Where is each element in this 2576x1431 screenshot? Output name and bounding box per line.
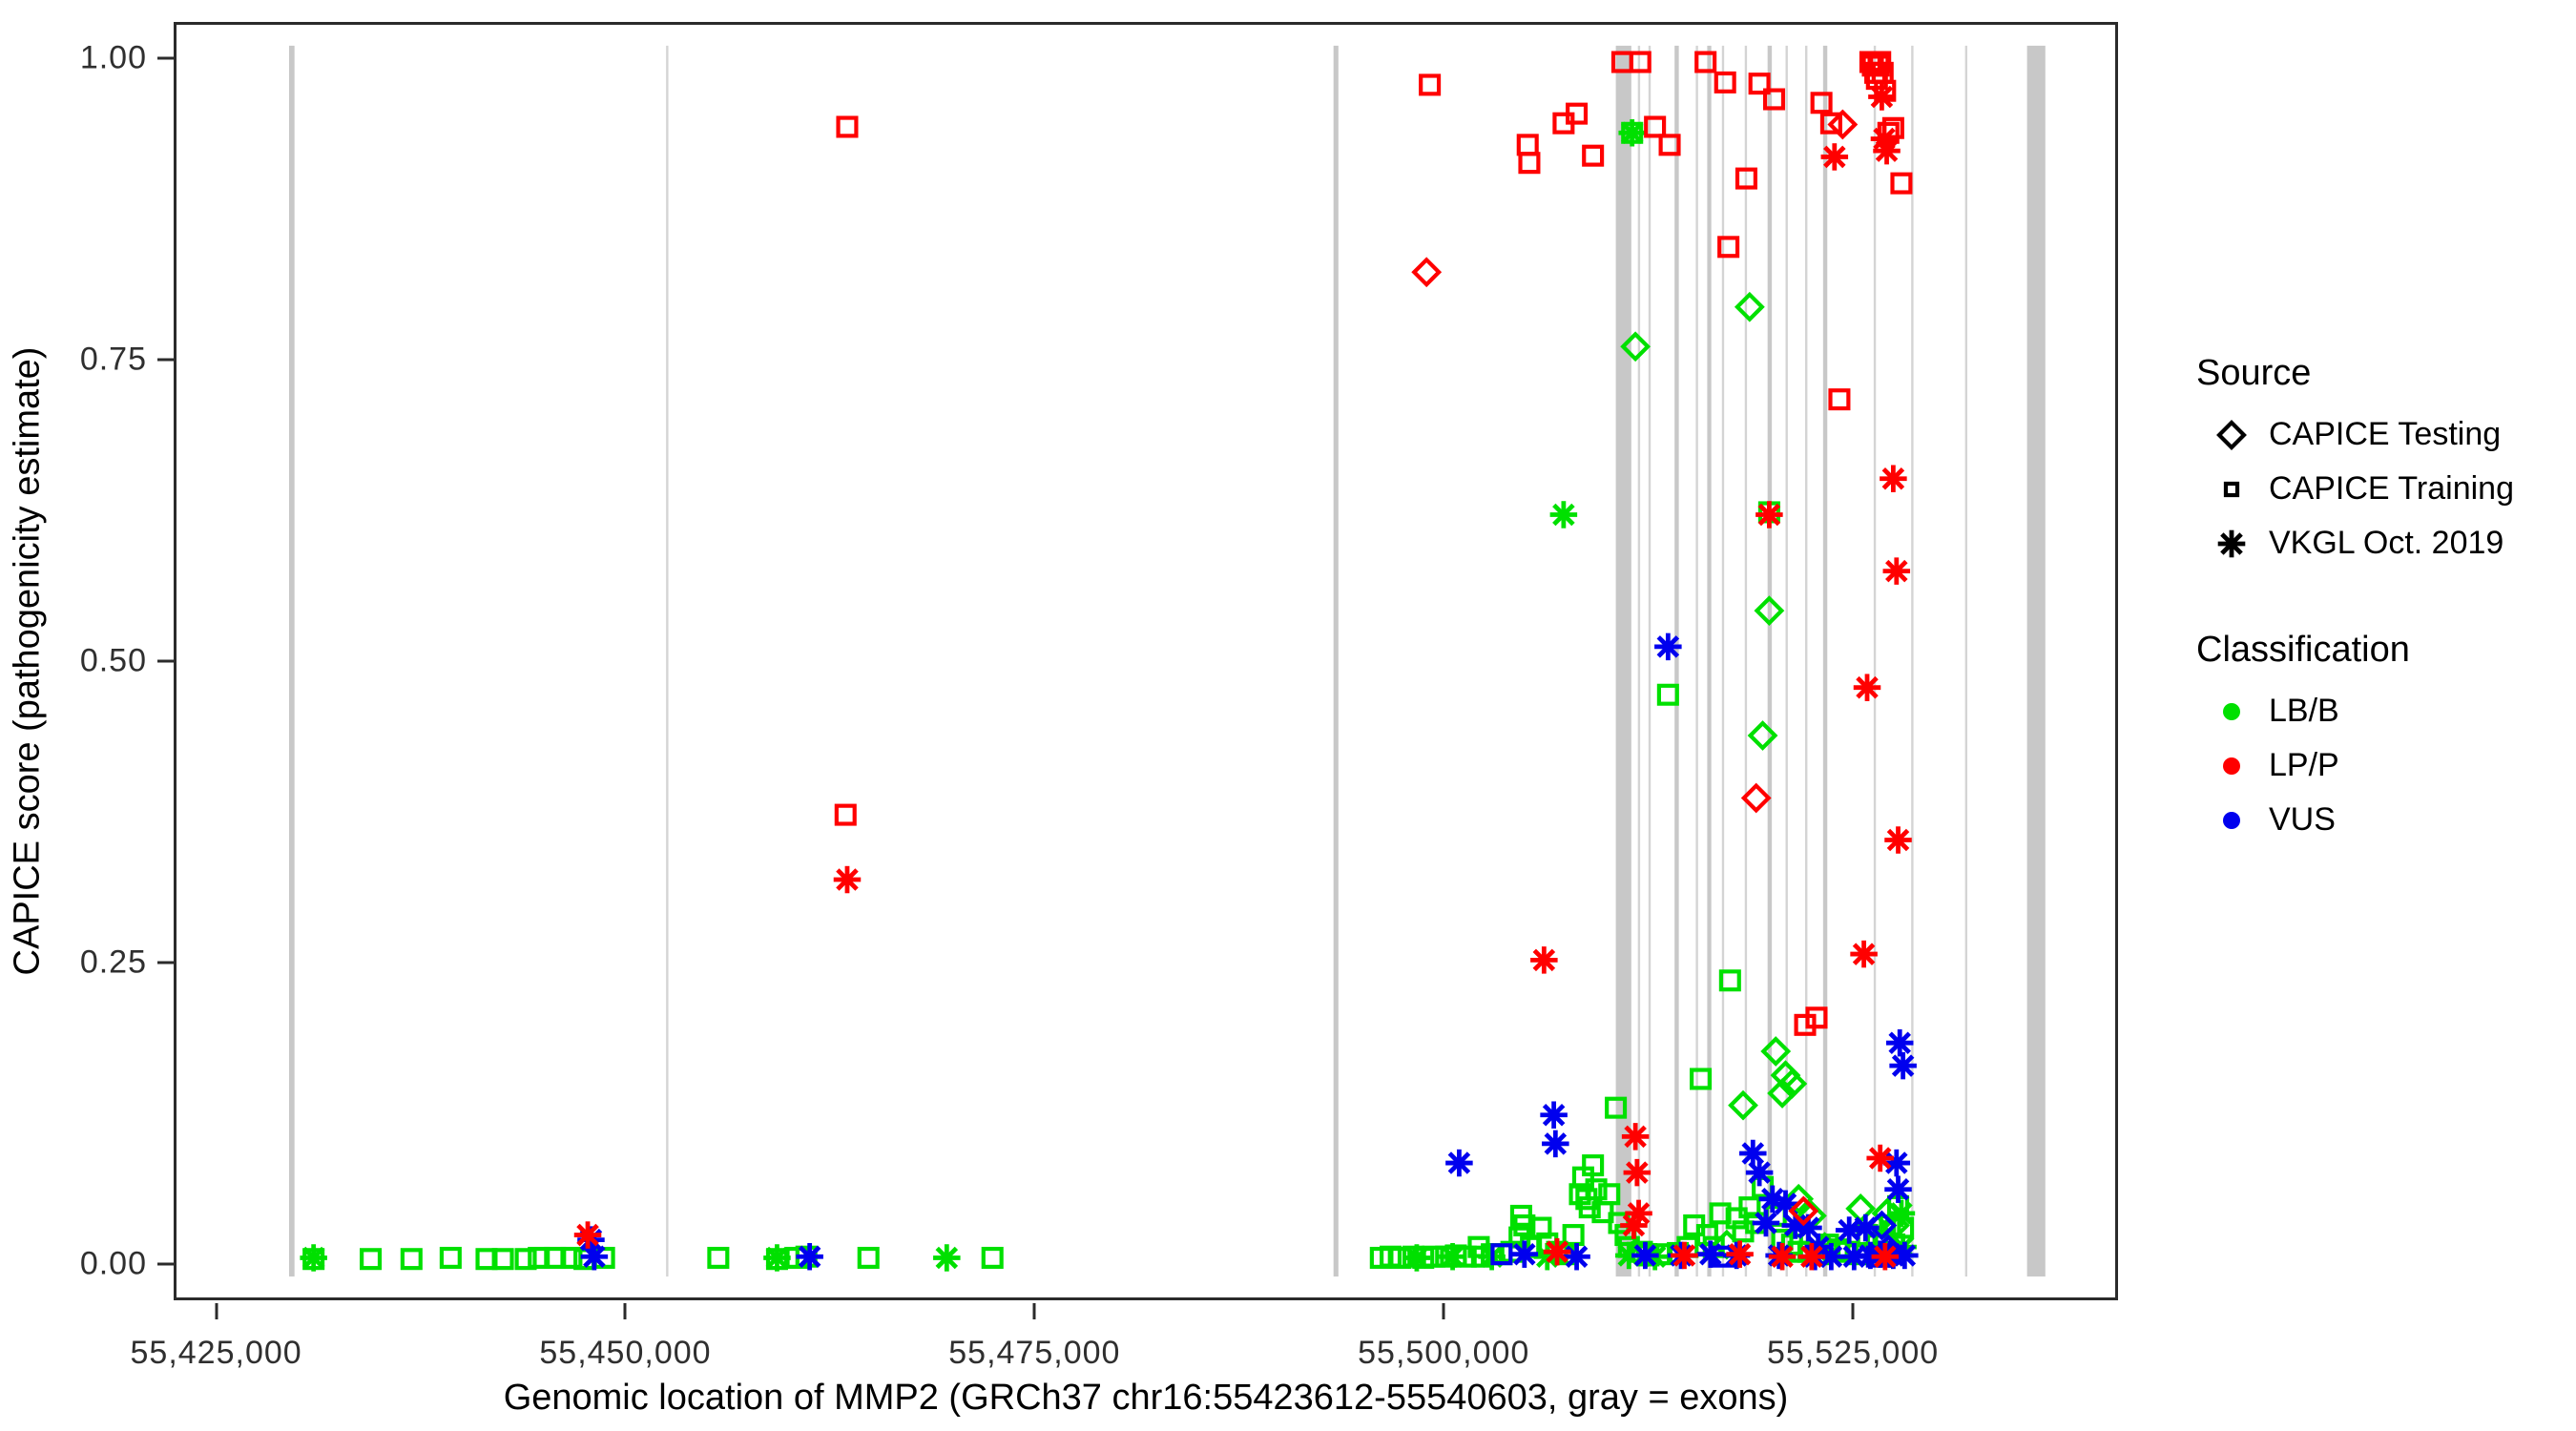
- data-point-asterisk: [1854, 674, 1881, 700]
- exon-band: [1695, 46, 1697, 1276]
- data-point-asterisk: [574, 1221, 602, 1248]
- data-point-square: [709, 1249, 727, 1267]
- y-tick-label: 0.50: [4, 643, 147, 680]
- x-tick-mark: [1852, 1303, 1855, 1319]
- data-point-asterisk: [1753, 1210, 1780, 1236]
- legend-item-capice-training[interactable]: CAPICE Training: [2194, 462, 2566, 516]
- data-point-circle: [2223, 757, 2240, 775]
- legend-label: CAPICE Training: [2269, 470, 2514, 508]
- exon-band: [1805, 46, 1807, 1276]
- legend-title-classification: Classification: [2196, 630, 2566, 671]
- x-tick-label: 55,500,000: [1358, 1335, 1529, 1372]
- y-tick-label: 0.75: [4, 341, 147, 378]
- data-point-asterisk: [1540, 1101, 1568, 1128]
- legend-item-lp-p[interactable]: LP/P: [2194, 738, 2566, 793]
- data-point-asterisk: [1883, 557, 1911, 584]
- data-point-asterisk: [1439, 1243, 1466, 1270]
- legend-item-capice-testing[interactable]: CAPICE Testing: [2194, 407, 2566, 462]
- exon-band: [1638, 46, 1640, 1276]
- data-point-diamond: [1763, 1039, 1788, 1064]
- series: [1623, 295, 1907, 1259]
- data-point-diamond: [1731, 1093, 1755, 1118]
- exon-band: [1745, 46, 1747, 1276]
- data-point-asterisk: [1542, 1130, 1569, 1157]
- series: [304, 124, 1912, 1268]
- legend-label: LB/B: [2269, 693, 2339, 730]
- data-point-asterisk: [1697, 1240, 1725, 1267]
- data-point-asterisk: [834, 866, 862, 893]
- data-point-square: [403, 1250, 421, 1268]
- exon-band: [1874, 46, 1876, 1276]
- data-point-square: [1519, 135, 1537, 154]
- exon-band: [1649, 46, 1651, 1276]
- data-point-asterisk: [1884, 826, 1912, 853]
- data-point-diamond: [1737, 295, 1762, 320]
- y-tick-mark: [157, 56, 174, 59]
- exon-band: [1334, 46, 1339, 1276]
- data-point-square: [1813, 93, 1831, 112]
- data-point-square: [2226, 483, 2237, 494]
- x-axis-label: Genomic location of MMP2 (GRCh37 chr16:5…: [174, 1378, 2118, 1419]
- data-point-asterisk: [1563, 1243, 1590, 1270]
- data-point-square: [1584, 147, 1602, 165]
- data-point-asterisk: [1880, 465, 1907, 491]
- data-point-square: [984, 1249, 1002, 1267]
- x-tick-mark: [1033, 1303, 1036, 1319]
- data-point-square: [860, 1249, 878, 1267]
- exon-band: [1722, 46, 1724, 1276]
- legend-block-classification: ClassificationLB/BLP/PVUS: [2194, 630, 2566, 847]
- data-point-square: [1521, 154, 1539, 172]
- data-point-asterisk: [581, 1243, 609, 1270]
- exon-band: [1911, 46, 1913, 1276]
- data-point-asterisk: [1872, 1243, 1900, 1270]
- legend-label: VUS: [2269, 801, 2336, 839]
- x-tick-mark: [624, 1303, 627, 1319]
- data-point-square: [1716, 73, 1735, 92]
- legend-item-vus[interactable]: VUS: [2194, 793, 2566, 847]
- y-tick-label: 1.00: [4, 39, 147, 76]
- data-point-asterisk: [1836, 1216, 1863, 1243]
- data-point-asterisk: [1654, 633, 1682, 660]
- data-point-asterisk: [1403, 1244, 1431, 1271]
- y-tick-label: 0.25: [4, 944, 147, 982]
- legend: SourceCAPICE TestingCAPICE TrainingVKGL …: [2194, 353, 2566, 906]
- data-point-diamond: [2219, 423, 2244, 447]
- legend-label: CAPICE Testing: [2269, 416, 2501, 453]
- x-tick-mark: [1443, 1303, 1445, 1319]
- legend-diamond-icon: [2194, 414, 2269, 456]
- exon-band: [1616, 46, 1631, 1276]
- data-point-asterisk: [1798, 1243, 1826, 1270]
- series: [577, 633, 1918, 1271]
- series: [837, 53, 1911, 1034]
- data-point-square: [837, 806, 855, 824]
- legend-circle-icon: [2194, 691, 2269, 733]
- data-point-asterisk: [1511, 1240, 1539, 1267]
- x-tick-label: 55,525,000: [1767, 1335, 1939, 1372]
- data-point-square: [839, 118, 857, 136]
- y-tick-label: 0.00: [4, 1246, 147, 1283]
- data-point-diamond: [1744, 786, 1769, 811]
- legend-item-lb-b[interactable]: LB/B: [2194, 684, 2566, 738]
- data-point-asterisk: [1889, 1052, 1917, 1079]
- legend-title-source: Source: [2196, 353, 2566, 394]
- data-point-asterisk: [1769, 1243, 1797, 1270]
- data-point-asterisk: [1624, 1159, 1652, 1186]
- data-point-square: [1692, 1070, 1710, 1089]
- data-point-asterisk: [1550, 501, 1578, 528]
- data-point-asterisk: [1544, 1238, 1571, 1265]
- data-point-asterisk: [1746, 1159, 1774, 1186]
- exon-band: [2027, 46, 2046, 1276]
- x-tick-label: 55,450,000: [539, 1335, 711, 1372]
- data-point-asterisk: [2218, 529, 2246, 557]
- data-point-asterisk: [1671, 1242, 1698, 1269]
- exon-band: [1965, 46, 1967, 1276]
- series: [300, 119, 1916, 1272]
- data-point-square: [442, 1249, 460, 1267]
- exon-band: [666, 46, 668, 1276]
- data-point-asterisk: [1620, 1212, 1648, 1238]
- data-point-asterisk: [1445, 1150, 1473, 1176]
- exon-band: [1707, 46, 1711, 1276]
- data-point-square: [1831, 390, 1849, 408]
- legend-square-icon: [2194, 468, 2269, 510]
- data-point-asterisk: [763, 1244, 791, 1271]
- data-point-asterisk: [1755, 501, 1783, 528]
- legend-item-vkgl-oct-2019[interactable]: VKGL Oct. 2019: [2194, 516, 2566, 570]
- exon-bands: [289, 46, 2046, 1276]
- legend-block-source: SourceCAPICE TestingCAPICE TrainingVKGL …: [2194, 353, 2566, 570]
- legend-label: VKGL Oct. 2019: [2269, 525, 2503, 562]
- data-point-asterisk: [1866, 1145, 1894, 1172]
- data-point-asterisk: [796, 1243, 823, 1270]
- data-point-diamond: [1414, 259, 1439, 284]
- legend-asterisk-icon: [2194, 523, 2269, 565]
- data-point-asterisk: [1884, 1175, 1912, 1202]
- exon-band: [1674, 46, 1678, 1276]
- series: [1414, 113, 1855, 1224]
- data-point-square: [1600, 1185, 1618, 1203]
- data-point-diamond: [1848, 1196, 1873, 1221]
- data-point-square: [1421, 76, 1439, 94]
- legend-circle-icon: [2194, 799, 2269, 841]
- data-point-asterisk: [1726, 1240, 1754, 1267]
- x-tick-label: 55,425,000: [131, 1335, 302, 1372]
- chart-root: CAPICE score (pathogenicity estimate) 0.…: [0, 0, 2576, 1431]
- data-point-asterisk: [1873, 137, 1901, 164]
- y-tick-mark: [157, 962, 174, 964]
- data-point-asterisk: [1631, 1242, 1659, 1269]
- data-point-asterisk: [933, 1244, 961, 1271]
- data-point-asterisk: [1821, 143, 1849, 170]
- data-point-asterisk: [1618, 119, 1646, 146]
- data-point-asterisk: [1886, 1029, 1914, 1056]
- data-point-square: [1696, 53, 1714, 72]
- data-point-circle: [2223, 703, 2240, 720]
- y-tick-mark: [157, 1263, 174, 1266]
- exon-band: [1823, 46, 1827, 1276]
- exon-band: [289, 46, 295, 1276]
- data-point-square: [1631, 53, 1650, 72]
- data-point-square: [1893, 175, 1911, 193]
- data-point-asterisk: [1622, 1123, 1650, 1150]
- data-point-asterisk: [1868, 83, 1896, 110]
- plot-panel: [174, 22, 2118, 1300]
- data-point-asterisk: [1850, 941, 1878, 967]
- y-tick-mark: [157, 358, 174, 361]
- data-point-square: [362, 1250, 380, 1268]
- y-tick-mark: [157, 660, 174, 663]
- data-point-asterisk: [1530, 946, 1558, 973]
- data-point-square: [1659, 686, 1677, 704]
- legend-label: LP/P: [2269, 747, 2339, 784]
- x-tick-mark: [215, 1303, 218, 1319]
- x-tick-label: 55,475,000: [948, 1335, 1120, 1372]
- data-point-asterisk: [300, 1244, 327, 1271]
- legend-circle-icon: [2194, 745, 2269, 787]
- data-point-circle: [2223, 812, 2240, 829]
- scatter-plot-canvas: [177, 25, 2115, 1297]
